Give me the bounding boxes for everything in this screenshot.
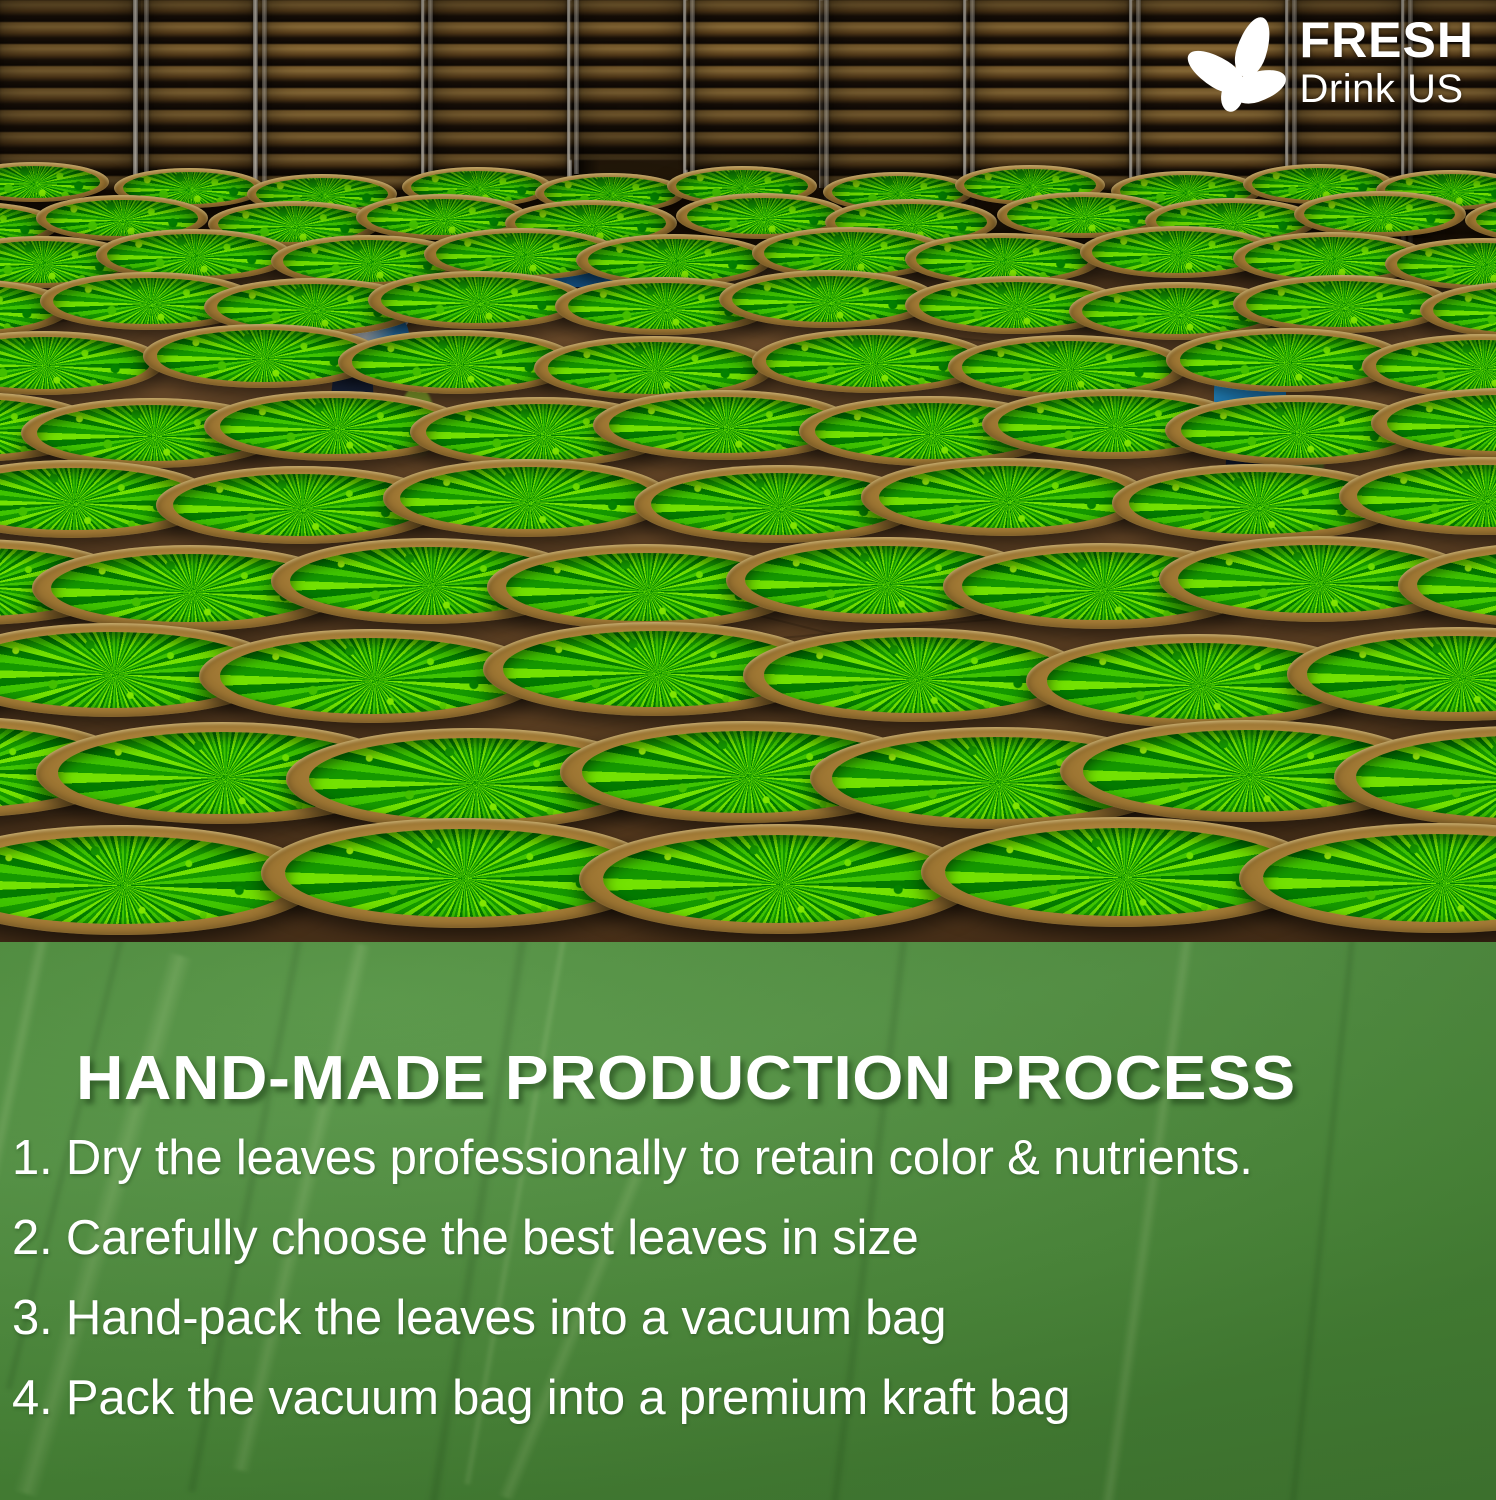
process-step: 3. Hand-pack the leaves into a vacuum ba… bbox=[12, 1278, 1492, 1358]
process-step: 2. Carefully choose the best leaves in s… bbox=[12, 1198, 1492, 1278]
bamboo-tray bbox=[1294, 191, 1466, 237]
panel-headline: HAND-MADE PRODUCTION PROCESS bbox=[76, 1043, 1296, 1114]
logo-line-fresh: FRESH bbox=[1300, 15, 1474, 65]
product-infographic-poster: FRESH Drink US HAND-MADE PRODUCTION PROC… bbox=[0, 0, 1496, 1500]
process-step-list: 1. Dry the leaves professionally to reta… bbox=[12, 1118, 1492, 1438]
logo-line-drink-us: Drink US bbox=[1300, 69, 1474, 109]
leaf-mark-icon bbox=[1194, 14, 1286, 110]
bamboo-tray bbox=[861, 458, 1149, 536]
bamboo-tray bbox=[719, 270, 937, 328]
logo-wordmark: FRESH Drink US bbox=[1300, 15, 1474, 109]
bamboo-tray bbox=[579, 824, 979, 934]
brand-logo: FRESH Drink US bbox=[1194, 14, 1474, 110]
process-step: 4. Pack the vacuum bag into a premium kr… bbox=[12, 1358, 1492, 1438]
bamboo-tray bbox=[0, 331, 164, 395]
process-step: 1. Dry the leaves professionally to reta… bbox=[12, 1118, 1492, 1198]
bamboo-tray bbox=[948, 335, 1188, 399]
bamboo-tray bbox=[383, 459, 671, 537]
factory-photo: FRESH Drink US bbox=[0, 0, 1496, 942]
bamboo-tray bbox=[368, 271, 586, 329]
bamboo-tray bbox=[1233, 275, 1451, 333]
